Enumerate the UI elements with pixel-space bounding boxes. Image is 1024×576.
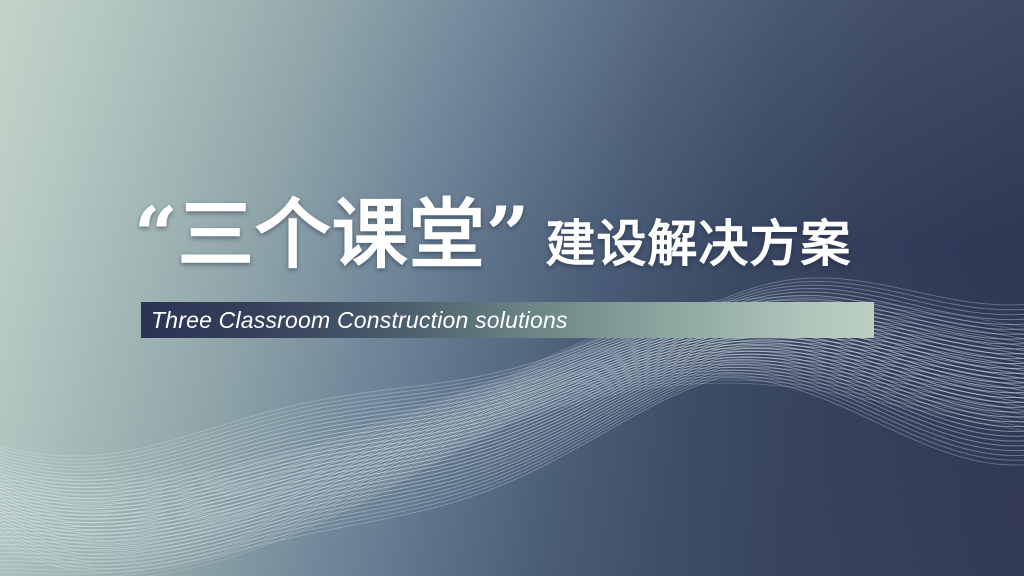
title-slide: “ 三个课堂 ” 建设解决方案 Three Classroom Construc… bbox=[0, 0, 1024, 576]
open-quote-mark: “ bbox=[134, 190, 178, 279]
title-main-text: 三个课堂 bbox=[178, 197, 486, 273]
close-quote-mark: ” bbox=[486, 190, 530, 279]
subtitle-bar: Three Classroom Construction solutions bbox=[141, 302, 874, 338]
title-secondary-text: 建设解决方案 bbox=[545, 219, 851, 269]
subtitle-text: Three Classroom Construction solutions bbox=[141, 307, 568, 334]
slide-title: “ 三个课堂 ” 建设解决方案 bbox=[134, 190, 851, 279]
background-tint-overlay bbox=[0, 0, 1024, 576]
